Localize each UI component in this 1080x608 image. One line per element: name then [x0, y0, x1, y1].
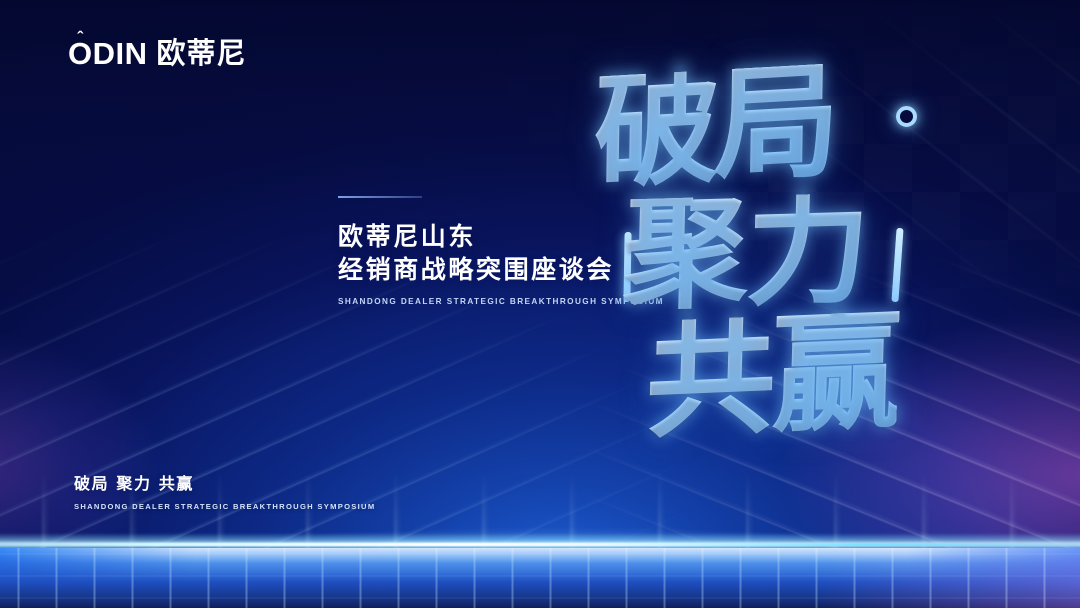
logo-letters-din: DIN [93, 38, 148, 69]
reflective-floor [0, 548, 1080, 608]
title-divider-rule [338, 196, 422, 198]
headline-line-1: 破局 [593, 63, 834, 190]
degree-ring-icon [896, 106, 917, 127]
calligraphy-headline: 破局 聚力 共赢 [576, 44, 1006, 474]
accent-bar-right [891, 228, 903, 302]
footer-slogan-block: 破局 聚力 共赢 SHANDONG DEALER STRATEGIC BREAK… [74, 470, 375, 511]
floor-purple-tint [760, 548, 1080, 608]
headline-line-3: 共赢 [644, 311, 899, 439]
footer-slogan-chinese: 破局 聚力 共赢 [74, 470, 375, 494]
circumflex-icon: ˆ [77, 29, 83, 46]
footer-slogan-english: SHANDONG DEALER STRATEGIC BREAKTHROUGH S… [74, 502, 375, 511]
brand-logo: ˆ O DIN 欧蒂尼 [68, 38, 247, 69]
poster-canvas: ˆ O DIN 欧蒂尼 欧蒂尼山东 经销商战略突围座谈会 SHANDONG DE… [0, 0, 1080, 608]
logo-wordmark-chinese: 欧蒂尼 [157, 39, 247, 68]
horizon-core-line [0, 543, 1080, 546]
logo-wordmark-latin: ˆ O DIN [68, 38, 148, 69]
logo-letter-o: ˆ O [68, 38, 93, 69]
headline-line-2: 聚力 [623, 193, 870, 312]
